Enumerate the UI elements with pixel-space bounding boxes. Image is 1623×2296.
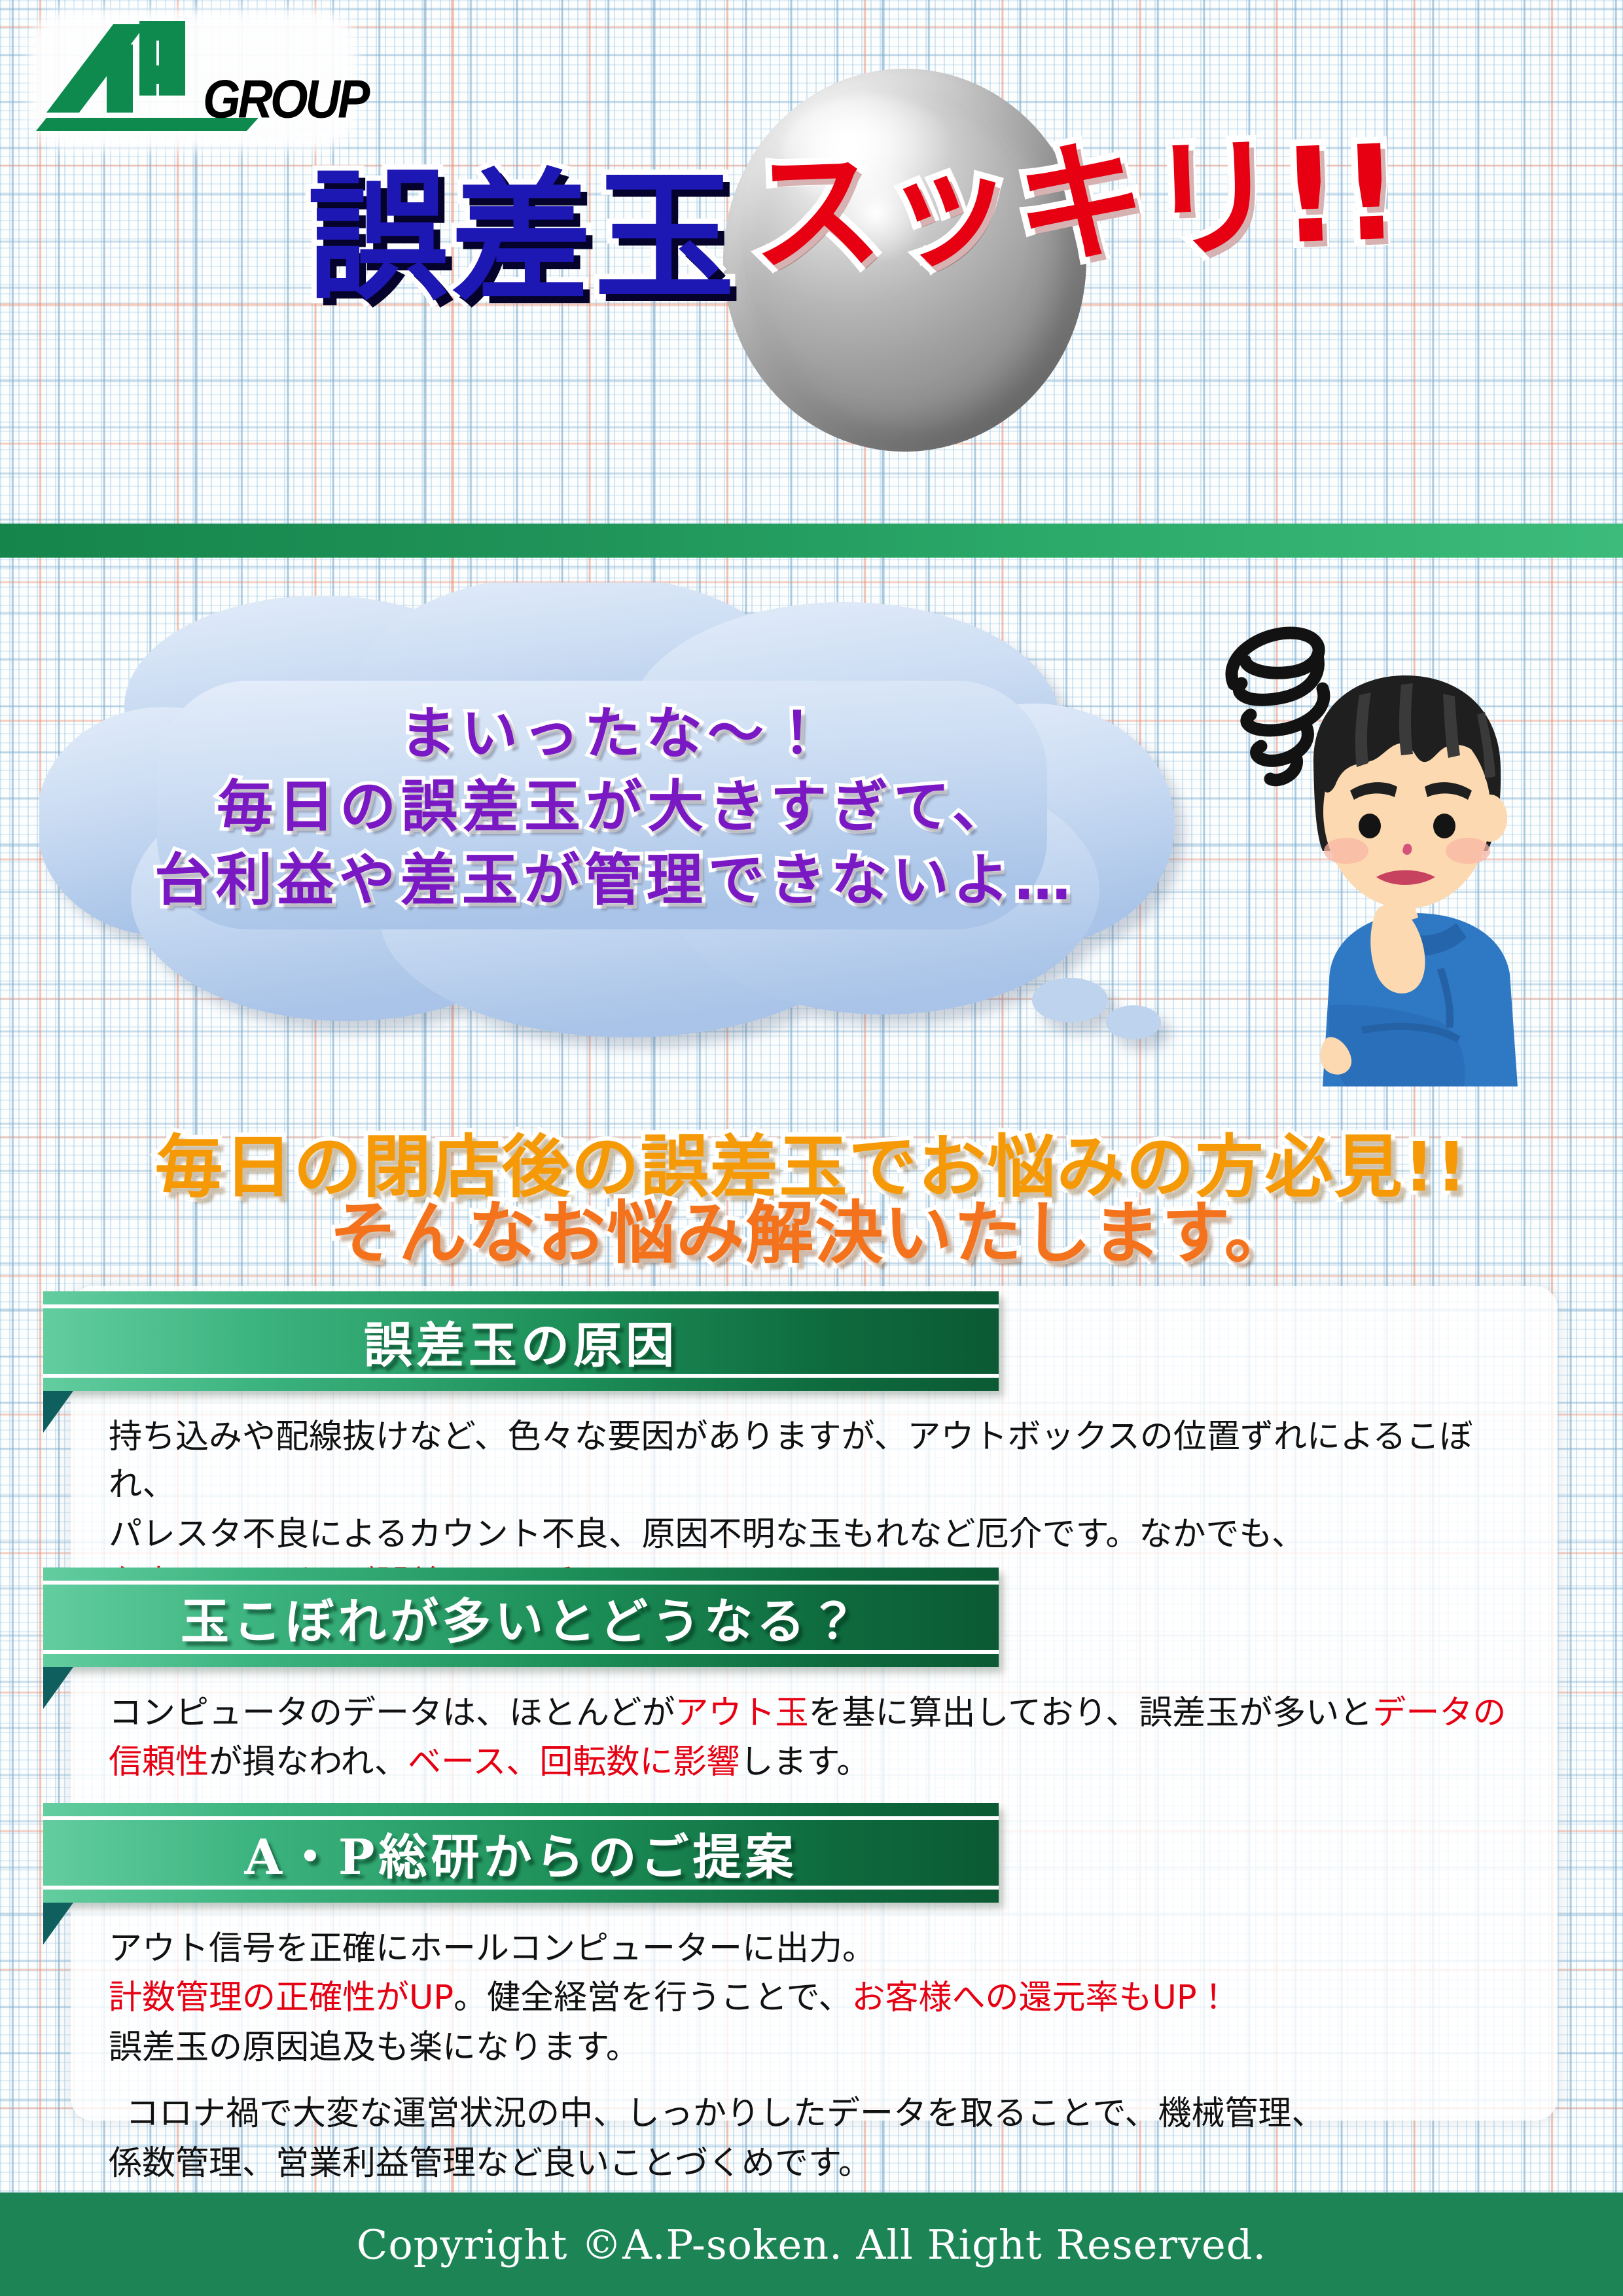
- text-run: を基に算出しており、誤差玉が多いと: [809, 1694, 1373, 1732]
- paragraph: 係数管理、営業利益管理など良いことづくめです。: [109, 2140, 1522, 2187]
- copyright-text: Copyright ©A.P-soken. All Right Reserved…: [357, 2221, 1266, 2269]
- ap-group-logo: GROUP: [36, 14, 350, 145]
- text-run: 係数管理、営業利益管理など良いことづくめです。: [109, 2144, 872, 2183]
- banner-fold: [43, 1903, 73, 1945]
- section-consequence: 玉こぼれが多いとどうなる？ コンピュータのデータは、ほとんどがアウト玉を基に算出…: [71, 1568, 1558, 1788]
- text-run-highlight: 計数管理の正確性が: [109, 1979, 409, 2017]
- section-proposal: A・P総研からのご提案 アウト信号を正確にホールコンピューターに出力。 計数管理…: [71, 1803, 1558, 2189]
- paragraph: 信頼性が損なわれ、ベース、回転数に影響します。: [109, 1738, 1522, 1786]
- section-heading: 玉こぼれが多いとどうなる？: [43, 1568, 999, 1667]
- bubble-line-1: まいったな〜！: [98, 698, 1132, 771]
- text-run: コンピュータのデータは、ほとんどが: [109, 1694, 675, 1732]
- text-run: 持ち込みや配線抜けなど、色々な要因がありますが、アウトボックスの位置ずれによるこ…: [109, 1418, 1472, 1504]
- section-heading: 誤差玉の原因: [43, 1291, 999, 1391]
- section-banner: 誤差玉の原因: [43, 1291, 999, 1391]
- section-body: アウト信号を正確にホールコンピューターに出力。 計数管理の正確性がUP。健全経営…: [109, 1925, 1522, 2187]
- paragraph: コンピュータのデータは、ほとんどがアウト玉を基に算出しており、誤差玉が多いとデー…: [109, 1689, 1522, 1737]
- page-title-red: スッキリ!!: [749, 128, 1404, 281]
- text-run-highlight: お客様への還元率もUP！: [852, 1979, 1230, 2017]
- paragraph: 計数管理の正確性がUP。健全経営を行うことで、お客様への還元率もUP！: [109, 1974, 1522, 2022]
- section-banner: 玉こぼれが多いとどうなる？: [43, 1568, 999, 1667]
- text-run: 誤差玉の原因追及も楽になります。: [109, 2028, 639, 2067]
- paragraph: 持ち込みや配線抜けなど、色々な要因がありますが、アウトボックスの位置ずれによるこ…: [109, 1413, 1522, 1509]
- text-run-highlight: アウト玉: [675, 1694, 808, 1732]
- paragraph: コロナ禍で大変な運営状況の中、しっかりしたデータを取ることで、機械管理、: [109, 2090, 1522, 2138]
- worried-man-illustration: [1207, 615, 1574, 1086]
- banner-fold: [43, 1391, 73, 1433]
- section-cause: 誤差玉の原因 持ち込みや配線抜けなど、色々な要因がありますが、アウトボックスの位…: [71, 1291, 1558, 1609]
- paragraph: パレスタ不良によるカウント不良、原因不明な玉もれなど厄介です。なかでも、: [109, 1511, 1522, 1558]
- headline-line-2: そんなお悩み解決いたします。: [0, 1198, 1623, 1268]
- bubble-line-2: 毎日の誤差玉が大きすぎて、: [98, 771, 1132, 844]
- thought-bubble-text: まいったな〜！ 毎日の誤差玉が大きすぎて、 台利益や差玉が管理できないよ…: [98, 698, 1132, 917]
- page-title-blue: 誤差玉: [308, 167, 738, 308]
- text-run: 。健全経営を行うことで、: [454, 1979, 851, 2017]
- flyer-page: GROUP 誤差玉 スッキリ!!: [0, 0, 1623, 2296]
- headline-line-1: 毎日の閉店後の誤差玉でお悩みの方必見!!: [0, 1132, 1623, 1202]
- bubble-line-3: 台利益や差玉が管理できないよ…: [98, 844, 1132, 918]
- text-run-highlight: 信頼性: [109, 1743, 209, 1782]
- green-divider-bar: [0, 524, 1623, 558]
- section-heading: A・P総研からのご提案: [43, 1803, 999, 1903]
- paragraph: 誤差玉の原因追及も楽になります。: [109, 2024, 1522, 2072]
- section-banner: A・P総研からのご提案: [43, 1803, 999, 1903]
- banner-fold: [43, 1667, 73, 1709]
- footer-bar: Copyright ©A.P-soken. All Right Reserved…: [0, 2193, 1623, 2296]
- text-run: が損なわれ、: [209, 1743, 408, 1782]
- text-run: コロナ禍で大変な運営状況の中、しっかりしたデータを取ることで、機械管理、: [126, 2094, 1325, 2133]
- text-run-highlight: ベース、回転数に影響: [408, 1743, 740, 1782]
- text-run: アウト信号を正確にホールコンピューターに出力。: [109, 1929, 876, 1968]
- text-run-highlight: UP: [409, 1979, 454, 2017]
- thought-bubble: まいったな〜！ 毎日の誤差玉が大きすぎて、 台利益や差玉が管理できないよ…: [39, 583, 1191, 1041]
- text-run-highlight: データの: [1372, 1694, 1506, 1732]
- logo-wordmark: GROUP: [203, 72, 367, 126]
- text-run: パレスタ不良によるカウント不良、原因不明な玉もれなど厄介です。なかでも、: [109, 1515, 1305, 1554]
- text-run: します。: [740, 1743, 870, 1782]
- frustration-scribble-icon: [1232, 633, 1324, 780]
- header-area: GROUP 誤差玉 スッキリ!!: [0, 0, 1623, 524]
- content-card: 誤差玉の原因 持ち込みや配線抜けなど、色々な要因がありますが、アウトボックスの位…: [71, 1286, 1558, 2121]
- paragraph: アウト信号を正確にホールコンピューターに出力。: [109, 1925, 1522, 1973]
- section-body: コンピュータのデータは、ほとんどがアウト玉を基に算出しており、誤差玉が多いとデー…: [109, 1689, 1522, 1787]
- promo-headline: 毎日の閉店後の誤差玉でお悩みの方必見!! そんなお悩み解決いたします。: [0, 1132, 1623, 1268]
